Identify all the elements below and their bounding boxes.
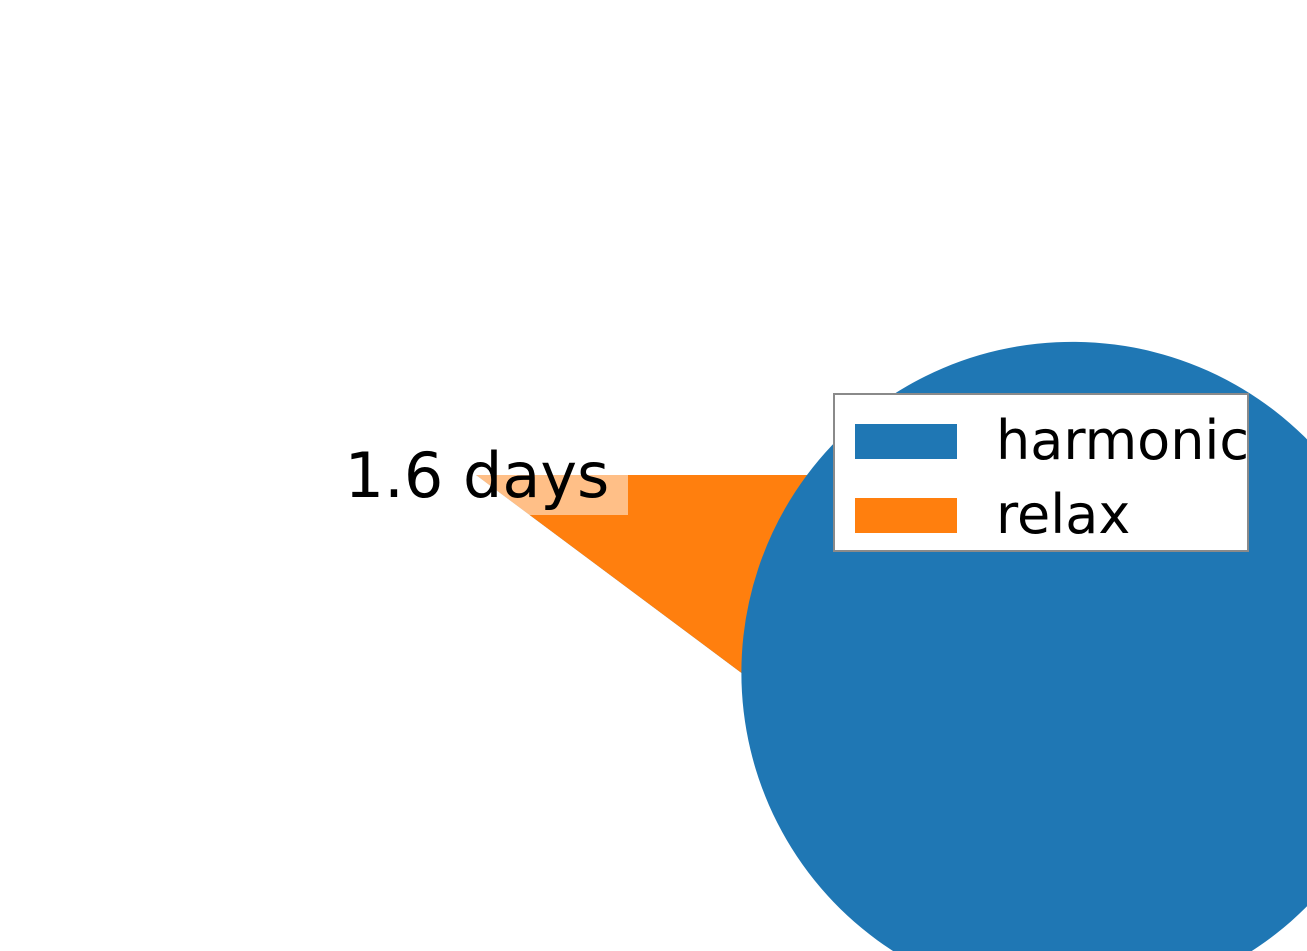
legend-swatch-relax	[855, 498, 957, 533]
legend: harmonic relax	[833, 393, 1249, 552]
legend-label-harmonic: harmonic	[996, 414, 1249, 468]
pie-slice-label-text: 1.6 days	[345, 445, 610, 507]
legend-swatch-harmonic	[855, 424, 957, 459]
legend-entry-relax[interactable]: relax	[835, 485, 1247, 545]
pie-chart-figure: 1.6 days harmonic relax	[0, 0, 1307, 951]
legend-label-relax: relax	[996, 488, 1130, 542]
pie-slice-label-harmonic: 1.6 days	[326, 436, 628, 515]
legend-entry-harmonic[interactable]: harmonic	[835, 411, 1247, 471]
